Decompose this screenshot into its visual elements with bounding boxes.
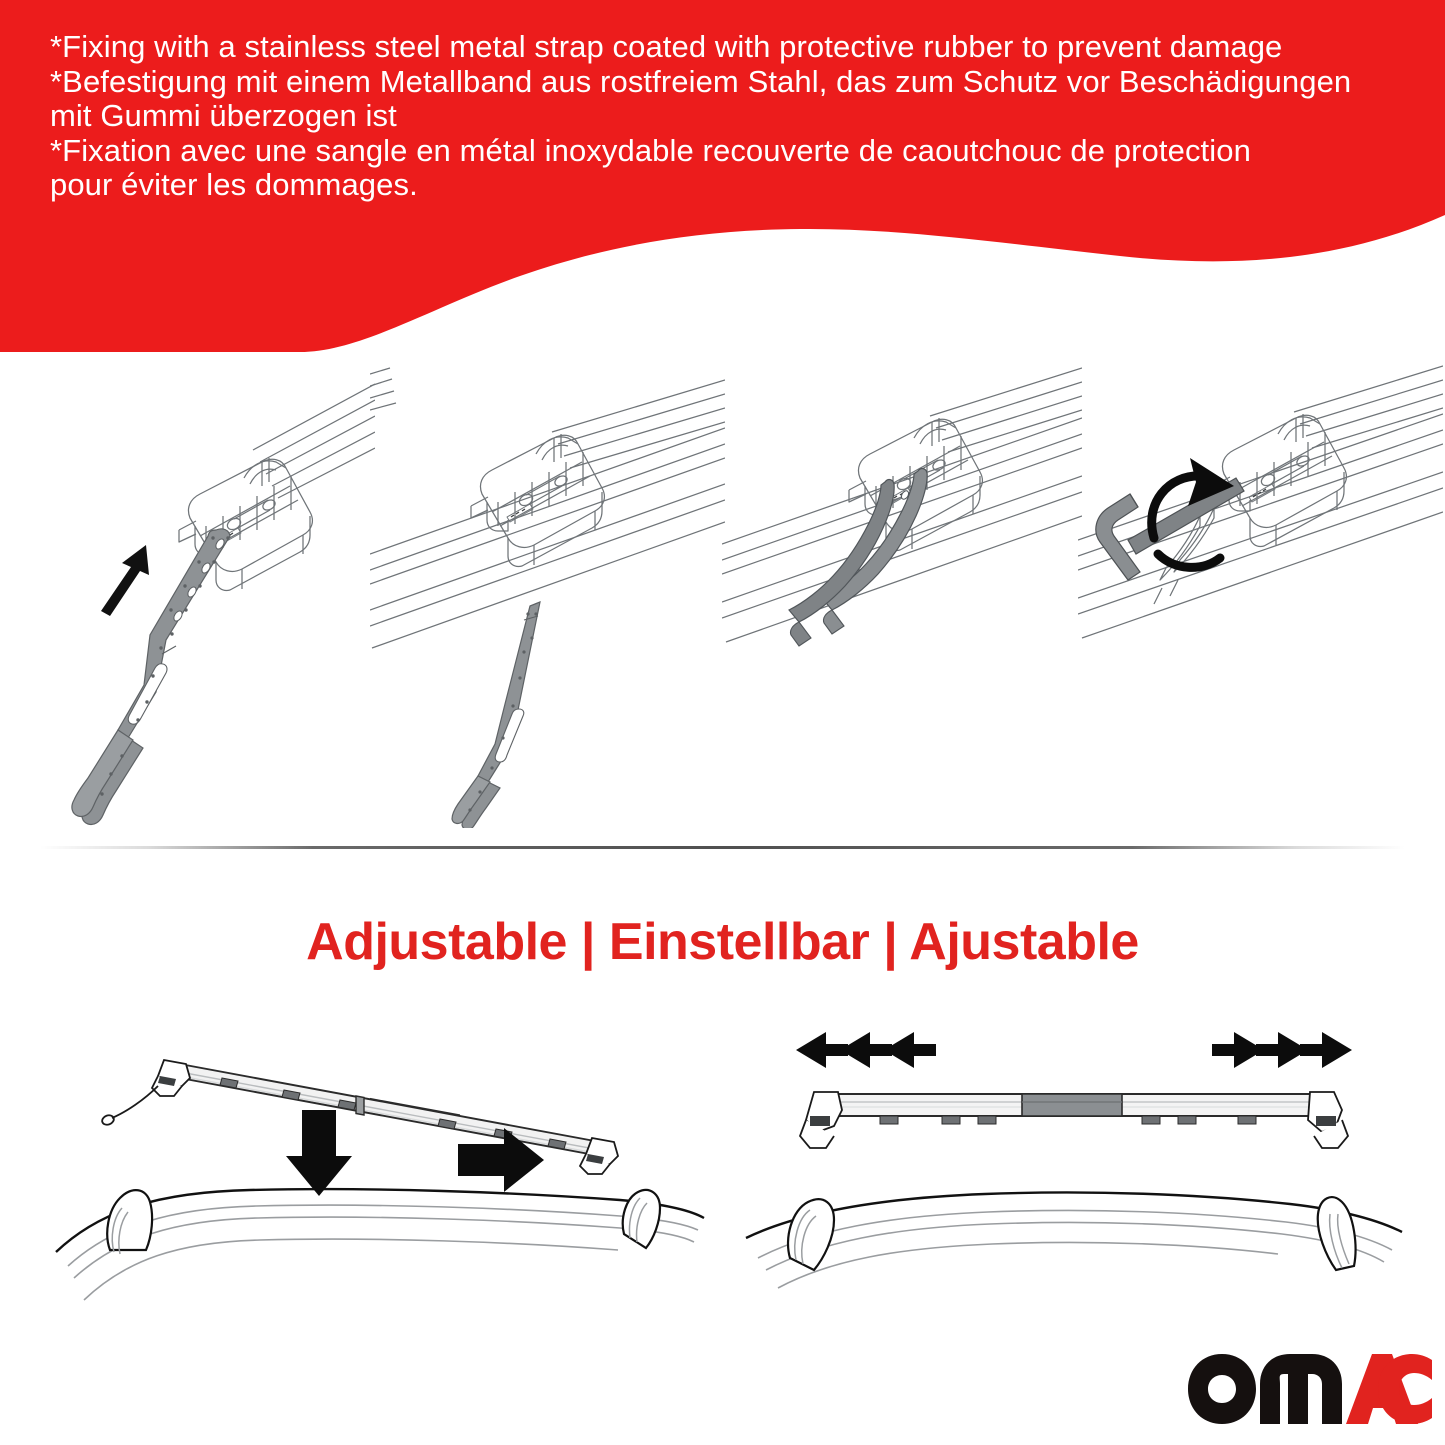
adjustment-diagrams	[0, 1020, 1445, 1320]
omac-logo-mark	[1186, 1352, 1434, 1426]
step-2-strap-under-rail	[370, 358, 725, 828]
diagram-crossbar-width-adjust	[730, 1020, 1420, 1320]
strap-under-rail-illustration	[370, 358, 725, 828]
bar-end-foot-left	[152, 1060, 190, 1096]
logo-letter-m	[1260, 1354, 1342, 1424]
section-divider	[40, 846, 1405, 849]
diagram-crossbar-placement	[40, 1020, 720, 1320]
cross-bar	[826, 1094, 1322, 1124]
cross-bar	[180, 1064, 600, 1156]
step-4-allen-key-tighten	[1078, 358, 1443, 828]
metal-strap	[72, 529, 230, 825]
metal-strap	[789, 469, 927, 646]
banner-description-text: *Fixing with a stainless steel metal str…	[50, 30, 1420, 203]
down-arrow	[286, 1110, 352, 1196]
adjustable-heading: Adjustable | Einstellbar | Ajustable	[0, 912, 1445, 972]
crossbar-placement-illustration	[40, 1020, 720, 1320]
step-3-strap-wrapped	[722, 358, 1082, 828]
up-arrow	[101, 545, 149, 616]
omac-logo	[1186, 1352, 1434, 1426]
triple-right-arrow	[1212, 1032, 1352, 1068]
product-infographic: *Fixing with a stainless steel metal str…	[0, 0, 1445, 1445]
header-banner: *Fixing with a stainless steel metal str…	[0, 0, 1445, 352]
strap-wrapped-illustration	[722, 358, 1082, 828]
logo-letter-o	[1188, 1354, 1256, 1424]
crossbar-width-adjust-illustration	[730, 1020, 1420, 1320]
step-1-strap-insertion	[10, 358, 375, 828]
metal-strap	[452, 602, 540, 828]
triple-left-arrow	[796, 1032, 936, 1068]
installation-steps	[0, 358, 1445, 828]
strap-insertion-illustration	[10, 358, 375, 828]
allen-key-tighten-illustration	[1078, 358, 1443, 828]
